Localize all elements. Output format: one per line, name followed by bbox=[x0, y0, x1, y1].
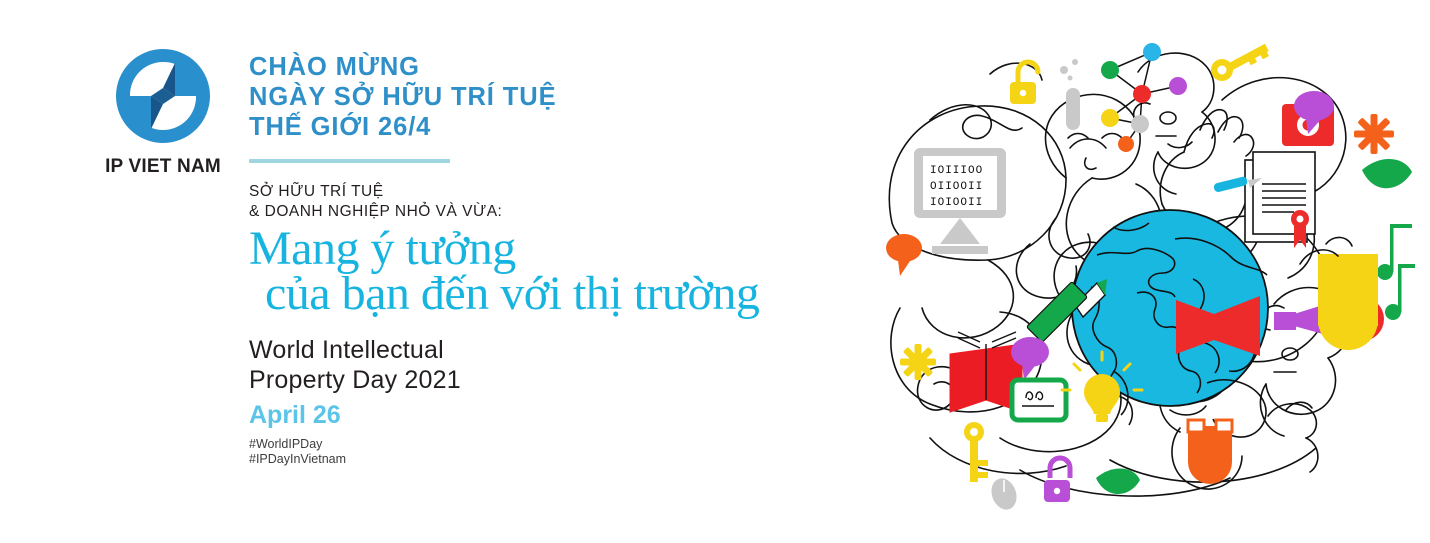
magnet-yellow-icon bbox=[1318, 254, 1378, 350]
speech-bubble-orange-icon bbox=[886, 234, 922, 276]
whiteboard-green-icon bbox=[1012, 380, 1066, 420]
padlock-purple-icon bbox=[1044, 458, 1070, 502]
english-title: World Intellectual Property Day 2021 bbox=[249, 335, 889, 395]
certificate-icon bbox=[1256, 130, 1260, 140]
magnet-orange-icon bbox=[1188, 420, 1232, 484]
english-title-line-1: World Intellectual bbox=[249, 335, 889, 365]
text-column: CHÀO MỪNG NGÀY SỞ HỮU TRÍ TUỆ THẾ GIỚI 2… bbox=[249, 52, 889, 467]
ip-vietnam-wordmark: IP VIET NAM bbox=[88, 156, 238, 178]
starburst-yellow-icon bbox=[900, 344, 936, 380]
theme-script-line-1: Mang ý tưởng bbox=[249, 226, 889, 271]
hashtag-ipdayinvietnam: #IPDayInVietnam bbox=[249, 452, 889, 467]
ip-vietnam-pinwheel-logo-icon bbox=[113, 46, 213, 146]
subtitle-line-1: SỞ HỮU TRÍ TUỆ bbox=[249, 182, 889, 202]
svg-text:IOIIIOO: IOIIIOO bbox=[930, 165, 983, 177]
leaf-green-2-icon bbox=[1096, 468, 1140, 494]
svg-text:OIIOOII: OIIOOII bbox=[930, 181, 983, 193]
headline-line-1: CHÀO MỪNG bbox=[249, 52, 889, 82]
subtitle-vietnamese: SỞ HỮU TRÍ TUỆ & DOANH NGHIỆP NHỎ VÀ VỪA… bbox=[249, 182, 889, 222]
starburst-orange-icon bbox=[1354, 114, 1394, 154]
world-ip-day-banner: IP VIET NAM CHÀO MỪNG NGÀY SỞ HỮU TRÍ TU… bbox=[0, 0, 1430, 543]
subtitle-line-2: & DOANH NGHIỆP NHỎ VÀ VỪA: bbox=[249, 202, 889, 222]
headline-vietnamese: CHÀO MỪNG NGÀY SỞ HỮU TRÍ TUỆ THẾ GIỚI 2… bbox=[249, 52, 889, 142]
leaf-green-icon bbox=[1362, 159, 1412, 188]
ip-vietnam-logo: IP VIET NAM bbox=[88, 46, 238, 178]
english-title-line-2: Property Day 2021 bbox=[249, 365, 889, 395]
certificate-document-icon bbox=[1244, 140, 1246, 142]
divider-rule bbox=[249, 159, 450, 163]
event-date: April 26 bbox=[249, 401, 889, 429]
music-note-icon bbox=[1377, 224, 1415, 320]
computer-mouse-icon bbox=[987, 475, 1020, 513]
theme-script-vietnamese: Mang ý tưởng của bạn đến với thị trường bbox=[249, 226, 889, 316]
key-gold-icon bbox=[1211, 44, 1269, 81]
test-tube-icon bbox=[1060, 59, 1080, 130]
hashtag-worldipday: #WorldIPDay bbox=[249, 437, 889, 452]
illustration-artwork-icon: IOIIIOO OIIOOII IOIOOII bbox=[870, 8, 1415, 528]
key-yellow-icon bbox=[964, 422, 988, 482]
monitor-binary-icon: IOIIIOO OIIOOII IOIOOII bbox=[914, 148, 1006, 254]
hashtag-group: #WorldIPDay #IPDayInVietnam bbox=[249, 437, 889, 467]
headline-line-3: THẾ GIỚI 26/4 bbox=[249, 112, 889, 142]
headline-line-2: NGÀY SỞ HỮU TRÍ TUỆ bbox=[249, 82, 889, 112]
signed-document-icon bbox=[1236, 160, 1238, 162]
theme-script-line-2: của bạn đến với thị trường bbox=[249, 271, 889, 316]
svg-text:IOIOOII: IOIOOII bbox=[930, 197, 983, 209]
world-ip-day-illustration: IOIIIOO OIIOOII IOIOOII bbox=[870, 8, 1415, 528]
